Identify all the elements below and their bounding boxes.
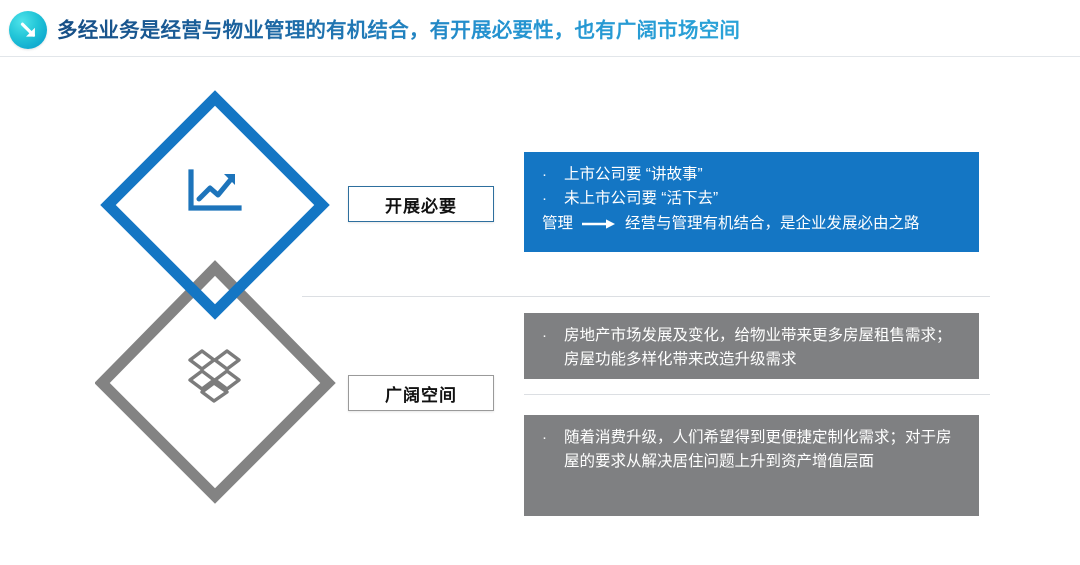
list-item: · 上市公司要 “讲故事” [542,163,963,187]
bullet-marker: · [542,163,564,187]
slide-canvas: 多经业务是经营与物业管理的有机结合，有开展必要性，也有广阔市场空间 [0,0,1080,565]
header-divider [0,56,1080,57]
chip-label-top[interactable]: 开展必要 [348,186,494,222]
chip-label-bottom[interactable]: 广阔空间 [348,375,494,411]
arrow-down-right-icon [9,11,47,49]
list-item-text: 未上市公司要 “活下去” [564,187,963,211]
page-title: 多经业务是经营与物业管理的有机结合，有开展必要性，也有广阔市场空间 [57,13,740,43]
chip-label-bottom-text: 广阔空间 [385,381,457,406]
list-item: · 房地产市场发展及变化，给物业带来更多房屋租售需求；房屋功能多样化带来改造升级… [542,324,963,373]
conclusion-row: 管理 经营与管理有机结合，是企业发展必由之路 [542,212,963,236]
list-item: · 未上市公司要 “活下去” [542,187,963,211]
content-card-gray-2: · 随着消费升级，人们希望得到更便捷定制化需求；对于房屋的要求从解决居住问题上升… [524,415,979,516]
content-card-blue: · 上市公司要 “讲故事” · 未上市公司要 “活下去” 管理 经营与管理有机结… [524,152,979,252]
bullet-marker: · [542,426,564,450]
conclusion-text: 经营与管理有机结合，是企业发展必由之路 [625,212,920,236]
bullet-marker: · [542,187,564,211]
list-item-text: 随着消费升级，人们希望得到更便捷定制化需求；对于房屋的要求从解决居住问题上升到资… [564,426,963,475]
dropbox-boxes-icon [190,351,239,401]
diamond-shape-top [108,98,322,312]
chip-label-top-text: 开展必要 [385,192,457,217]
bullet-marker: · [542,324,564,348]
list-item-text: 房地产市场发展及变化，给物业带来更多房屋租售需求；房屋功能多样化带来改造升级需求 [564,324,963,373]
section-divider-lower [524,394,990,395]
section-divider-middle [302,296,990,297]
line-chart-growth-icon [191,172,239,208]
conclusion-lead: 管理 [542,212,573,236]
slide-header: 多经业务是经营与物业管理的有机结合，有开展必要性，也有广阔市场空间 [0,0,1080,57]
diamond-diagram [95,88,345,508]
list-item-text: 上市公司要 “讲故事” [564,163,963,187]
list-item: · 随着消费升级，人们希望得到更便捷定制化需求；对于房屋的要求从解决居住问题上升… [542,426,963,475]
content-card-gray-1: · 房地产市场发展及变化，给物业带来更多房屋租售需求；房屋功能多样化带来改造升级… [524,313,979,379]
long-right-arrow-icon [582,218,616,230]
